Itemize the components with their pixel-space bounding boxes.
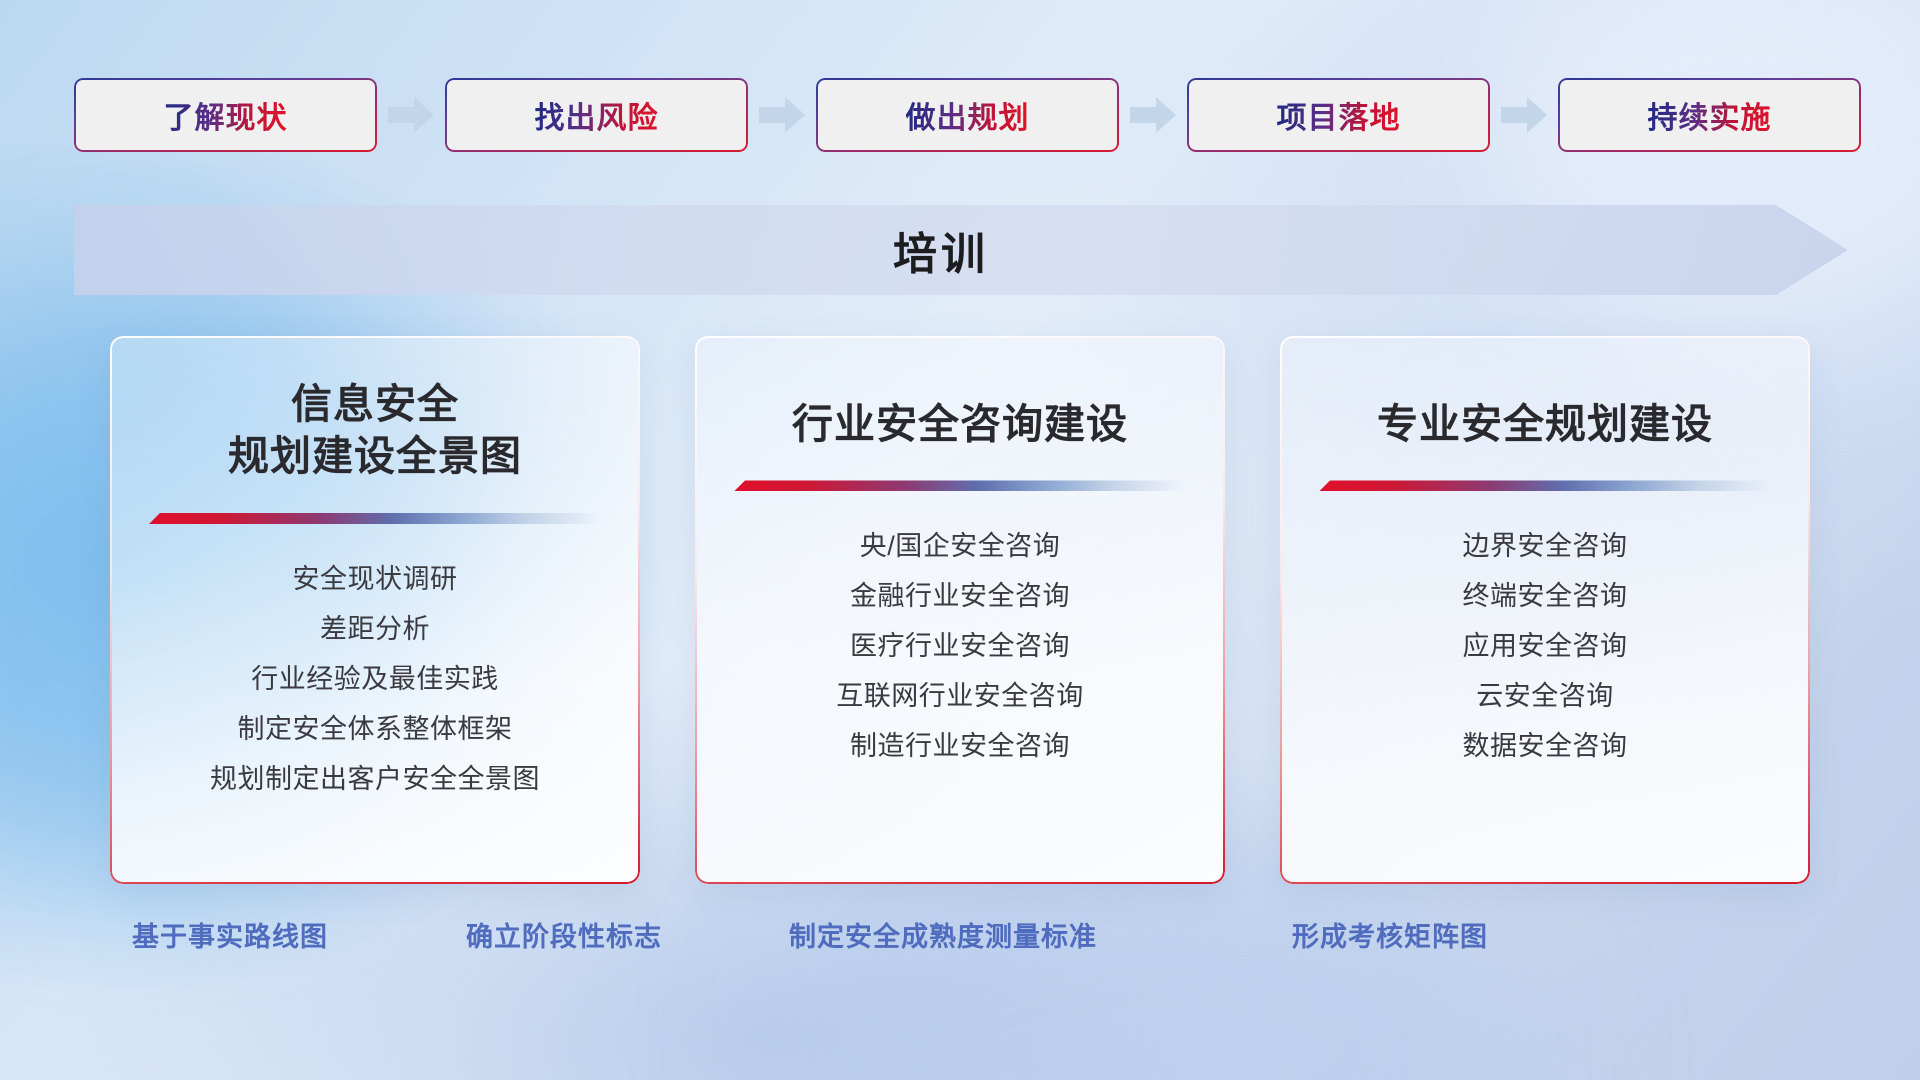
step-arrow-icon-2 [748,78,816,152]
step-arrow-icon-1 [377,78,445,152]
step-box-5[interactable]: 持续实施 [1558,78,1861,152]
step-box-4[interactable]: 项目落地 [1187,78,1490,152]
card-divider-2 [734,480,1186,491]
card-divider-3 [1319,480,1771,491]
caption-maturity-standard: 制定安全成熟度测量标准 [789,915,1097,954]
list-item: 边界安全咨询 [1463,521,1628,571]
step-box-3[interactable]: 做出规划 [816,78,1119,152]
slide-canvas: 了解现状 找出风险 做出规划 项目落地 持续实施 培训 [0,0,1920,1080]
list-item: 医疗行业安全咨询 [850,621,1070,671]
step-label-1: 了解现状 [164,93,288,137]
footer-caption-row: 基于事实路线图 确立阶段性标志 制定安全成熟度测量标准 形成考核矩阵图 [0,915,1920,967]
caption-roadmap: 基于事实路线图 [132,915,328,954]
step-box-2[interactable]: 找出风险 [445,78,748,152]
card-professional-security-planning[interactable]: 专业安全规划建设 边界安全咨询 终端安全咨询 应用安全咨询 云安全咨询 数据安全… [1280,336,1810,884]
list-item: 互联网行业安全咨询 [836,671,1084,721]
list-item: 金融行业安全咨询 [850,571,1070,621]
card-list-2: 央/国企安全咨询 金融行业安全咨询 医疗行业安全咨询 互联网行业安全咨询 制造行… [695,521,1225,771]
process-step-row: 了解现状 找出风险 做出规划 项目落地 持续实施 [74,78,1846,152]
card-list-1: 安全现状调研 差距分析 行业经验及最佳实践 制定安全体系整体框架 规划制定出客户… [110,554,640,804]
background-glow-right [1480,0,1920,350]
list-item: 行业经验及最佳实践 [251,654,499,704]
step-box-1[interactable]: 了解现状 [74,78,377,152]
list-item: 制造行业安全咨询 [850,721,1070,771]
caption-milestones: 确立阶段性标志 [466,915,662,954]
step-label-4: 项目落地 [1277,93,1401,137]
card-industry-security-consulting[interactable]: 行业安全咨询建设 央/国企安全咨询 金融行业安全咨询 医疗行业安全咨询 互联网行… [695,336,1225,884]
training-banner: 培训 [74,205,1848,295]
list-item: 应用安全咨询 [1463,621,1628,671]
caption-assessment-matrix: 形成考核矩阵图 [1292,915,1488,954]
card-title-2: 行业安全咨询建设 [695,398,1225,450]
step-label-5: 持续实施 [1648,93,1772,137]
list-item: 安全现状调研 [293,554,458,604]
step-arrow-icon-3 [1119,78,1187,152]
step-label-3: 做出规划 [906,93,1030,137]
banner-title: 培训 [74,205,1848,295]
list-item: 规划制定出客户安全全景图 [210,754,540,804]
list-item: 终端安全咨询 [1463,571,1628,621]
card-divider-1 [149,513,601,524]
card-list-3: 边界安全咨询 终端安全咨询 应用安全咨询 云安全咨询 数据安全咨询 [1280,521,1810,771]
list-item: 云安全咨询 [1476,671,1614,721]
card-title-3: 专业安全规划建设 [1280,398,1810,450]
list-item: 差距分析 [320,604,430,654]
card-info-security-panorama[interactable]: 信息安全 规划建设全景图 安全现状调研 差距分析 行业经验及最佳实践 制定安全体… [110,336,640,884]
list-item: 制定安全体系整体框架 [238,704,513,754]
list-item: 央/国企安全咨询 [860,521,1061,571]
list-item: 数据安全咨询 [1463,721,1628,771]
step-label-2: 找出风险 [535,93,659,137]
card-row: 信息安全 规划建设全景图 安全现状调研 差距分析 行业经验及最佳实践 制定安全体… [110,336,1810,884]
card-title-1: 信息安全 规划建设全景图 [110,378,640,483]
step-arrow-icon-4 [1490,78,1558,152]
